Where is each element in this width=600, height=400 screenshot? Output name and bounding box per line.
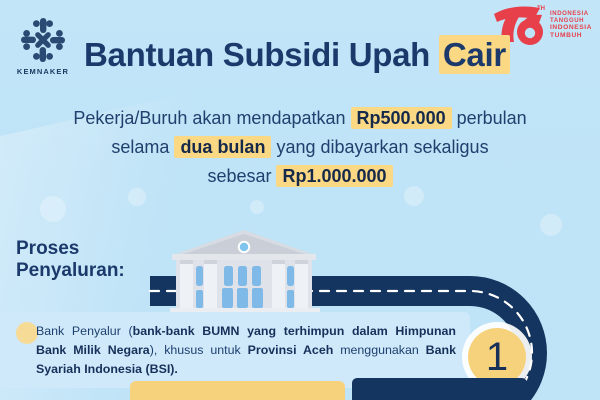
bottom-accent-bar-navy <box>352 378 527 400</box>
section-heading-line2: Penyaluran: <box>16 260 125 282</box>
desc-bold-province: Provinsi Aceh <box>248 343 334 357</box>
infographic-poster: KEMNAKER TH INDONESIA TANGGUH INDONESIA … <box>0 0 600 400</box>
panel-accent-dot <box>16 322 38 344</box>
bottom-accent-bar-yellow <box>130 381 345 400</box>
section-heading: Proses Penyaluran: <box>16 238 125 282</box>
desc-part-1: Bank Penyalur ( <box>36 324 133 338</box>
bank-building-icon <box>162 228 327 320</box>
section-heading-line1: Proses <box>16 238 125 260</box>
desc-part-2: ), khusus untuk <box>150 343 248 357</box>
desc-part-3: menggunakan <box>333 343 425 357</box>
step-number: 1 <box>486 337 508 377</box>
disbursement-description: Bank Penyalur (bank-bank BUMN yang terhi… <box>36 322 456 379</box>
